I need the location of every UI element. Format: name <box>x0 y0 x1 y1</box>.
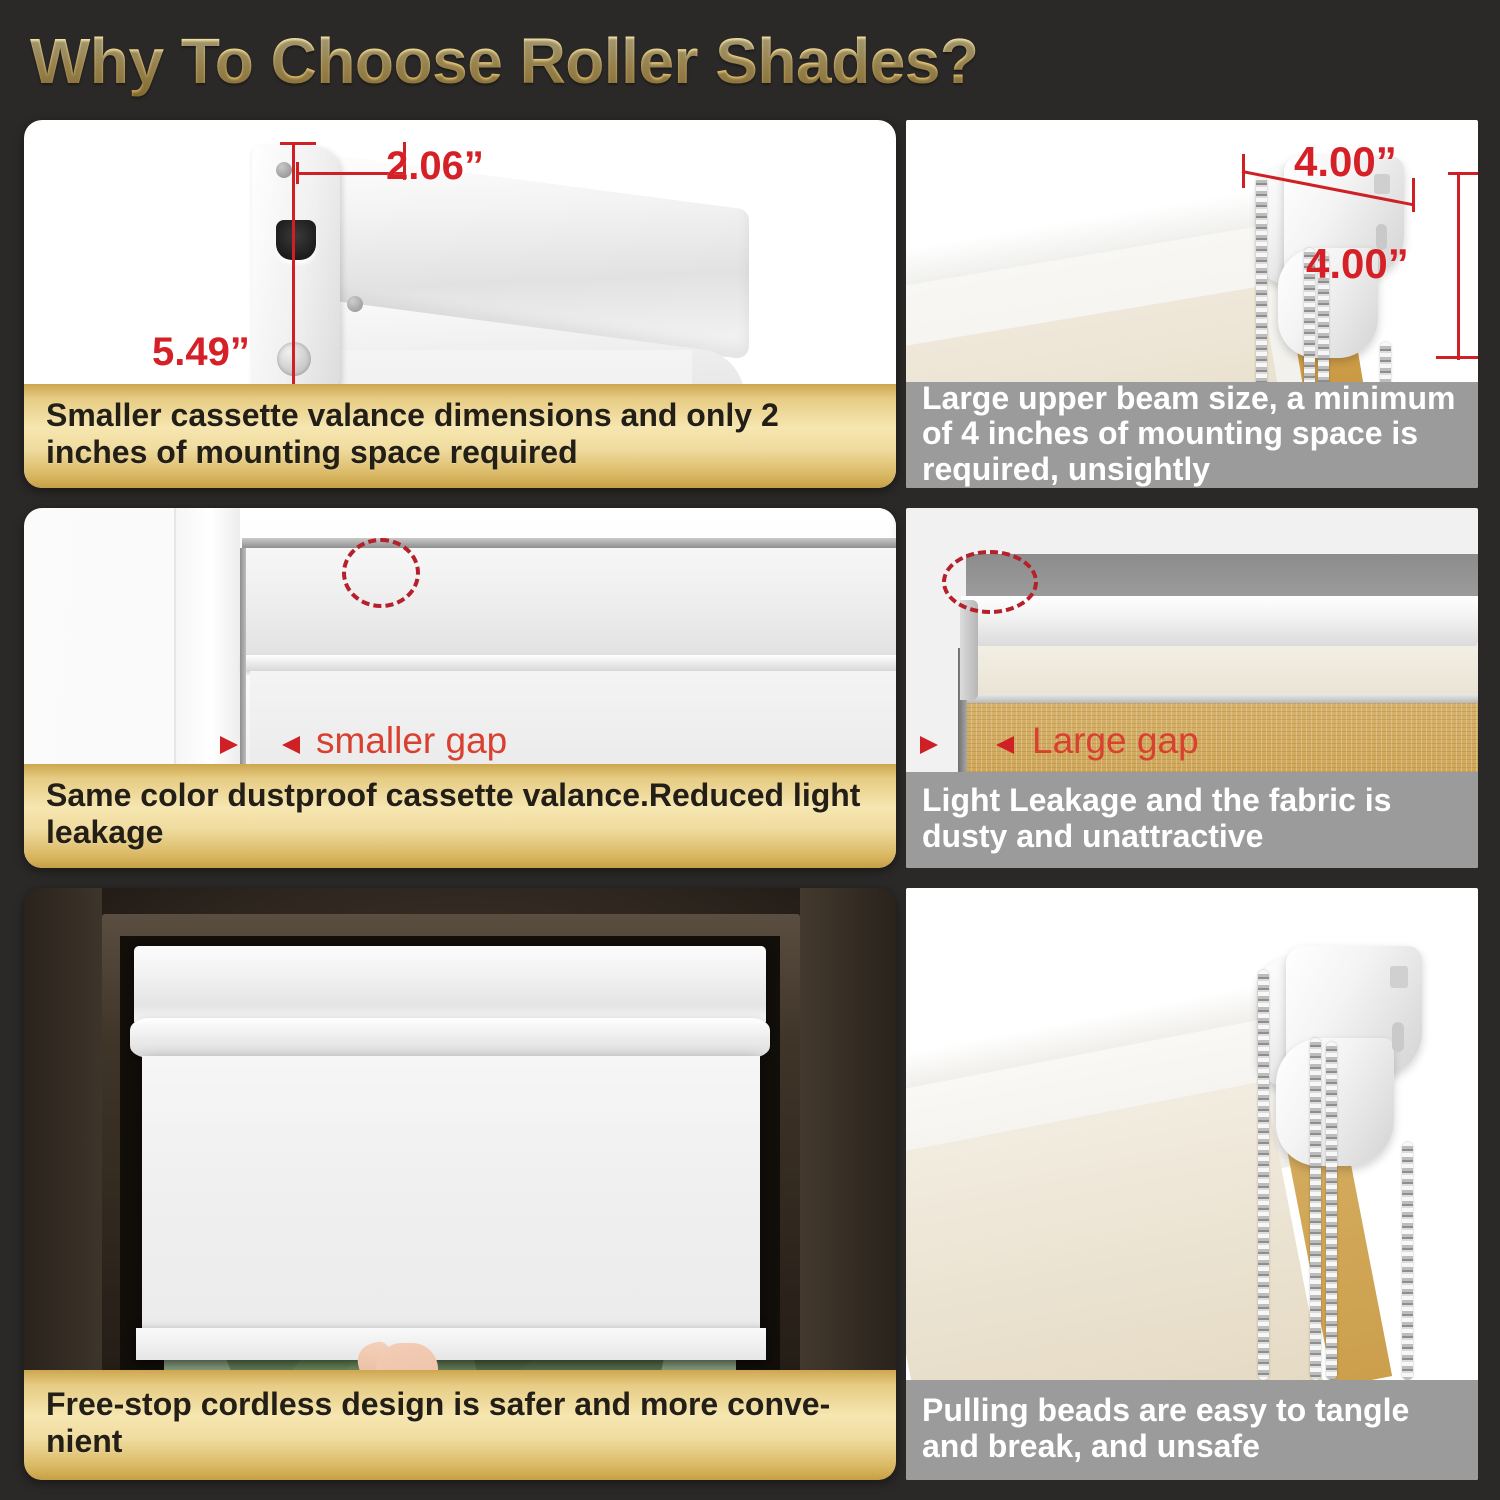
panel-2-caption: Large upper beam size, a minimum of 4 in… <box>906 382 1478 488</box>
bead-chain <box>1402 1142 1413 1380</box>
gap-arrow-right-icon <box>220 736 238 754</box>
panel-1-caption-text: Smaller cassette valance dimensions and … <box>46 397 874 471</box>
headrail <box>242 538 896 548</box>
bracket-end <box>960 600 978 700</box>
panel-1-caption: Smaller cassette valance dimensions and … <box>24 384 896 488</box>
panel-3-caption-text: Same color dustproof cassette valance.Re… <box>46 777 874 851</box>
title-bar: Why To Choose Roller Shades? <box>0 0 1500 118</box>
panel-smaller-cassette: 2.06” 5.49” Smaller cassette valance dim… <box>24 120 896 488</box>
roller-tube <box>961 596 1478 650</box>
panel-light-leakage: Large gap Light Leakage and the fabric i… <box>906 508 1478 868</box>
panel-dustproof-cassette: smaller gap Same color dustproof cassett… <box>24 508 896 868</box>
gap-arrow-right-icon <box>920 736 938 754</box>
side-gap <box>240 548 246 778</box>
cassette-valance <box>134 946 766 1024</box>
dimension-tick <box>1412 178 1415 212</box>
shade-fabric-upper <box>244 548 896 655</box>
bead-chain <box>1258 970 1269 1380</box>
dimension-tick <box>280 142 316 145</box>
bracket-slot-icon <box>1392 1022 1404 1052</box>
dimension-tick <box>1448 172 1478 175</box>
panel-5-caption-text: Free-stop cordless design is safer and m… <box>46 1386 874 1460</box>
dimension-tick <box>1242 154 1245 188</box>
dimension-label-width: 2.06” <box>386 144 484 189</box>
page-title: Why To Choose Roller Shades? <box>30 24 978 98</box>
end-cap-slot-icon <box>276 220 316 260</box>
panel-cordless-design: Free-stop cordless design is safer and m… <box>24 888 896 1480</box>
panel-pulling-beads: Pulling beads are easy to tangle and bre… <box>906 888 1478 1480</box>
gap-arrow-left-icon <box>282 736 300 754</box>
highlight-circle-annotation <box>942 550 1038 614</box>
panel-3-caption: Same color dustproof cassette valance.Re… <box>24 764 896 868</box>
bead-chain <box>1310 1038 1321 1380</box>
headrail-shadow <box>966 554 1478 596</box>
dimension-label-height: 5.49” <box>152 330 250 375</box>
screw-icon <box>276 162 292 178</box>
dimension-label-height: 4.00” <box>1306 240 1409 288</box>
bottom-rail <box>136 1328 766 1360</box>
screw-icon <box>347 296 363 312</box>
panel-2-caption-text: Large upper beam size, a minimum of 4 in… <box>922 381 1462 487</box>
gap-label: smaller gap <box>316 720 507 762</box>
shade-fabric <box>142 1056 760 1346</box>
dimension-tick <box>296 162 299 184</box>
panel-large-upper-beam: 4.00” 4.00” Large upper beam size, a min… <box>906 120 1478 488</box>
gap-arrow-left-icon <box>996 736 1014 754</box>
cassette-valance-edge <box>242 655 896 671</box>
valance-strip <box>964 646 1478 698</box>
panel-6-caption: Pulling beads are easy to tangle and bre… <box>906 1380 1478 1480</box>
dimension-tick <box>1436 356 1478 359</box>
dimension-label-width: 4.00” <box>1294 138 1397 186</box>
highlight-circle-annotation <box>342 538 420 608</box>
valance-under-rail <box>964 694 1478 703</box>
panel-4-caption-text: Light Leakage and the fabric is dusty an… <box>922 783 1462 855</box>
gap-label: Large gap <box>1032 720 1199 762</box>
bracket-notch-icon <box>1390 966 1408 988</box>
panel-5-caption: Free-stop cordless design is safer and m… <box>24 1370 896 1480</box>
panel-4-caption: Light Leakage and the fabric is dusty an… <box>906 772 1478 868</box>
dimension-line-height <box>1457 172 1460 360</box>
panel-6-caption-text: Pulling beads are easy to tangle and bre… <box>922 1393 1462 1465</box>
bead-chain <box>1326 1042 1337 1380</box>
valance-lip <box>130 1018 770 1058</box>
